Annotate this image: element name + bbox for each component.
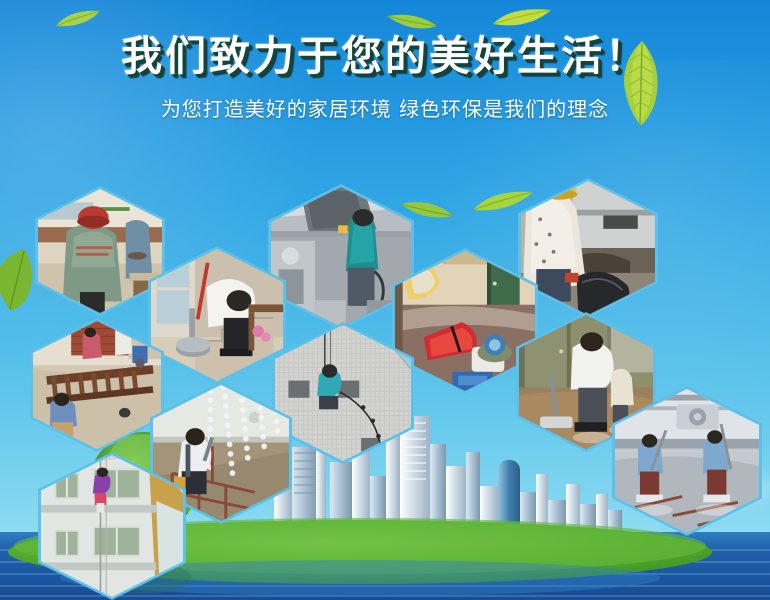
hex-demolition-worker[interactable] [35,186,165,316]
promo-banner: 我们致力于您的美好生活！ 为您打造美好的家居环境 绿色环保是我们的理念 [0,0,770,600]
hexagon-photo-grid [0,0,770,600]
hex-kitchen-degrease[interactable] [518,178,658,318]
hex-stair-mopping[interactable] [148,246,286,384]
page-subtitle: 为您打造美好的家居环境 绿色环保是我们的理念 [161,95,609,123]
subline-container: 为您打造美好的家居环境 绿色环保是我们的理念 [0,95,770,123]
hex-handrail-paint[interactable] [30,318,164,452]
headline-container: 我们致力于您的美好生活！ [0,32,770,80]
page-title: 我们致力于您的美好生活！ [121,32,649,80]
